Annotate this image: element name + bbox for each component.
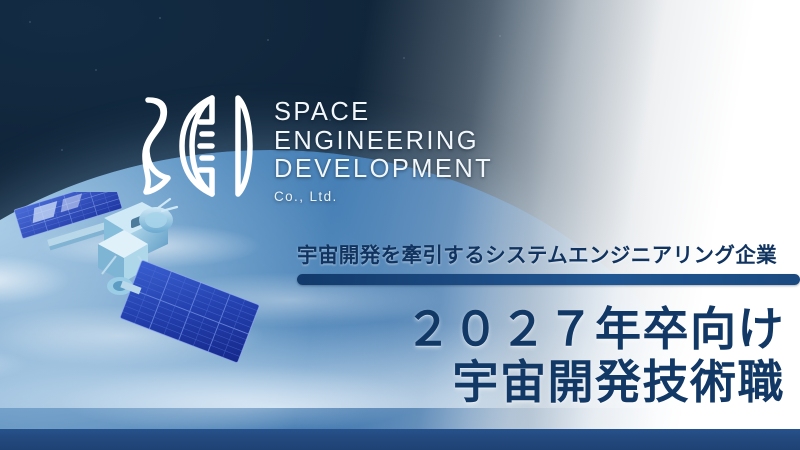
headline-block: ２０２７年卒向け 宇宙開発技術職	[405, 303, 785, 409]
wordmark-line-3: DEVELOPMENT	[274, 155, 493, 184]
hero-banner: SPACE ENGINEERING DEVELOPMENT Co., Ltd. …	[0, 0, 800, 450]
tagline-underline-bar	[297, 274, 800, 285]
satellite-icon	[2, 192, 270, 364]
company-wordmark: SPACE ENGINEERING DEVELOPMENT Co., Ltd.	[274, 92, 493, 204]
tagline-block: 宇宙開発を牽引するシステムエンジニアリング企業	[297, 243, 800, 285]
sed-monogram-icon	[138, 92, 256, 200]
company-suffix: Co., Ltd.	[274, 189, 493, 204]
tagline-text: 宇宙開発を牽引するシステムエンジニアリング企業	[297, 243, 800, 267]
wordmark-line-2: ENGINEERING	[274, 127, 493, 156]
wordmark-line-1: SPACE	[274, 98, 493, 127]
headline-line-2: 宇宙開発技術職	[405, 356, 785, 409]
company-logo: SPACE ENGINEERING DEVELOPMENT Co., Ltd.	[138, 92, 493, 204]
headline-line-1: ２０２７年卒向け	[405, 303, 785, 356]
bottom-accent-bar	[0, 429, 800, 450]
